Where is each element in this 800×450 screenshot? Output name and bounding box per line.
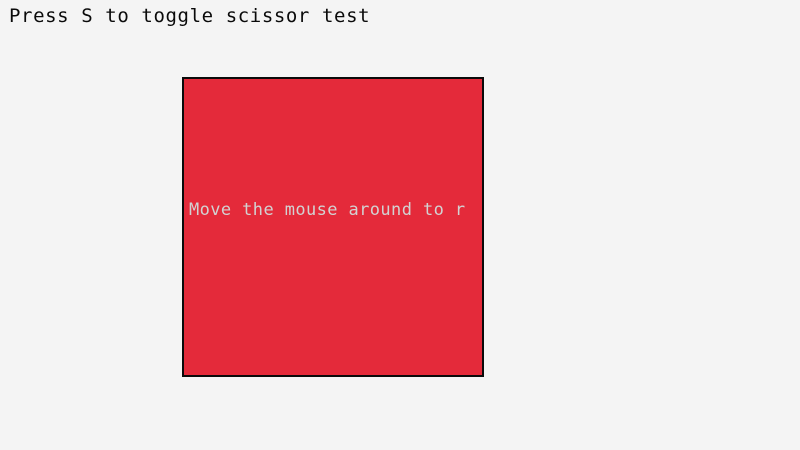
scissor-clip-region: Move the mouse around to r [184,79,482,375]
scissor-toggle-hint: Press S to toggle scissor test [9,5,370,27]
app-canvas: Press S to toggle scissor test Move the … [0,0,800,450]
scissor-test-rectangle[interactable]: Move the mouse around to r [182,77,484,377]
scissor-instruction-label: Move the mouse around to r [189,200,466,220]
